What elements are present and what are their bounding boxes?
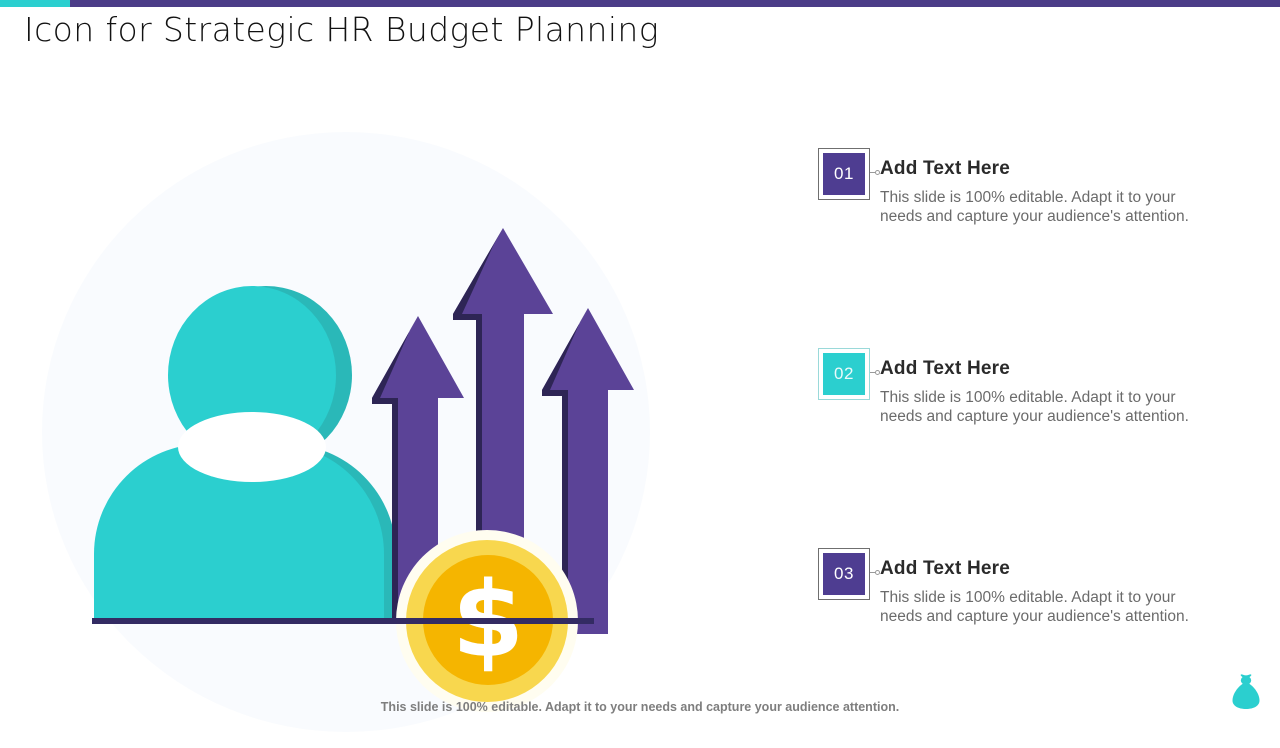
item-heading-03: Add Text Here bbox=[880, 558, 1010, 580]
money-bag-icon bbox=[1226, 672, 1266, 712]
badge-number-03: 03 bbox=[823, 553, 865, 595]
list-item[interactable]: 01 Add Text Here This slide is 100% edit… bbox=[818, 148, 1248, 348]
item-body-02: This slide is 100% editable. Adapt it to… bbox=[880, 388, 1210, 426]
top-accent-bar bbox=[0, 0, 1280, 7]
badge-box-03: 03 bbox=[818, 548, 870, 600]
item-body-01: This slide is 100% editable. Adapt it to… bbox=[880, 188, 1210, 226]
ground-line bbox=[92, 618, 594, 624]
hr-budget-growth-illustration: $ bbox=[38, 112, 658, 632]
page-title: Icon for Strategic HR Budget Planning bbox=[24, 10, 659, 49]
badge-box-02: 02 bbox=[818, 348, 870, 400]
list-item[interactable]: 02 Add Text Here This slide is 100% edit… bbox=[818, 348, 1248, 548]
badge-number-02: 02 bbox=[823, 353, 865, 395]
badge-box-01: 01 bbox=[818, 148, 870, 200]
list-item[interactable]: 03 Add Text Here This slide is 100% edit… bbox=[818, 548, 1248, 748]
feature-list: 01 Add Text Here This slide is 100% edit… bbox=[818, 148, 1248, 748]
top-accent-bar-teal-segment bbox=[0, 0, 70, 7]
slide-canvas: { "theme": { "purple": "#4b3c88", "purpl… bbox=[0, 0, 1280, 720]
item-heading-01: Add Text Here bbox=[880, 158, 1010, 180]
badge-number-01: 01 bbox=[823, 153, 865, 195]
item-heading-02: Add Text Here bbox=[880, 358, 1010, 380]
person-neck-gap bbox=[178, 412, 326, 482]
item-body-03: This slide is 100% editable. Adapt it to… bbox=[880, 588, 1210, 626]
footer-note: This slide is 100% editable. Adapt it to… bbox=[0, 700, 1280, 714]
